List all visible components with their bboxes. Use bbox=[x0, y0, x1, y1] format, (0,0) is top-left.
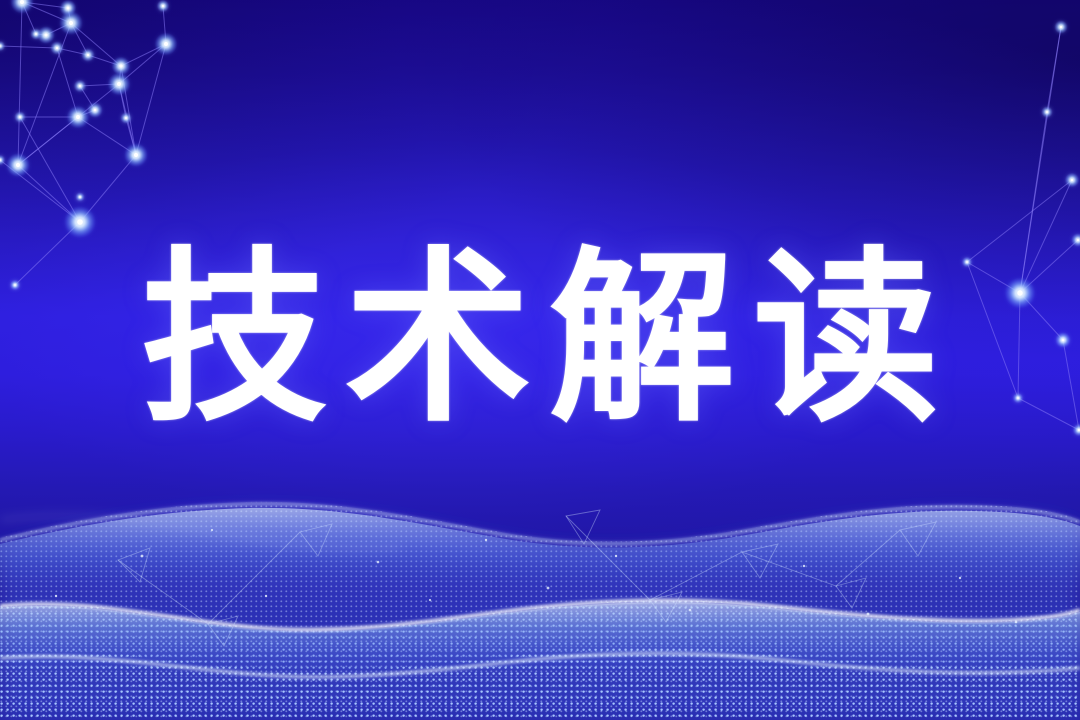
wave-crest-far-glow bbox=[0, 508, 1080, 592]
wave-landscape bbox=[0, 420, 1080, 720]
poster-canvas: 技术解读 bbox=[0, 0, 1080, 720]
